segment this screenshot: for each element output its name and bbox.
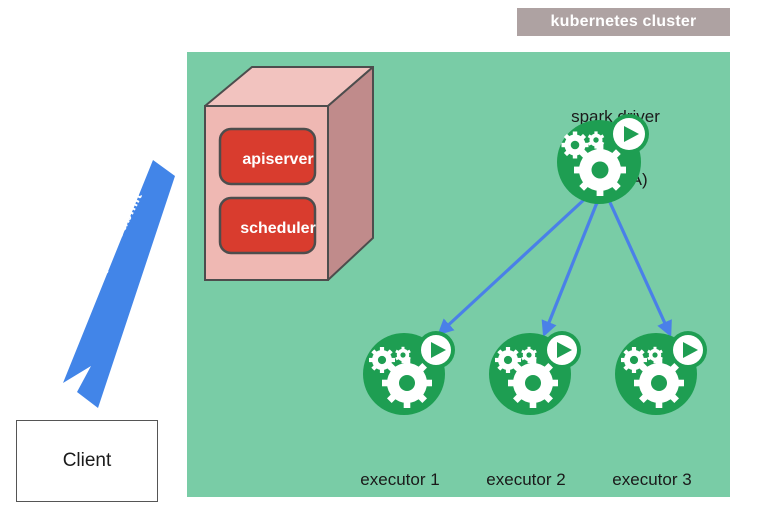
apiserver-component: [220, 129, 315, 184]
kubernetes-cluster-badge: kubernetes cluster: [517, 8, 730, 36]
spark-gears-play-icon: [484, 328, 586, 416]
spark-gears-play-icon: [610, 328, 712, 416]
client-label: Client: [63, 450, 112, 472]
executor-3-caption: executor 3 (node B): [577, 427, 727, 516]
spark-gears-play-icon: [358, 328, 460, 416]
diagram-canvas: kubernetes cluster Client spark-submit a…: [0, 0, 761, 516]
cube-right-face: [328, 67, 373, 280]
control-plane-cube: [204, 66, 374, 281]
spark-gears-play-icon: [552, 112, 652, 207]
scheduler-component: [220, 198, 315, 253]
client-box: Client: [16, 420, 158, 502]
kubernetes-cluster-badge-label: kubernetes cluster: [551, 13, 697, 31]
executor-3-caption-line1: executor 3: [577, 469, 727, 490]
